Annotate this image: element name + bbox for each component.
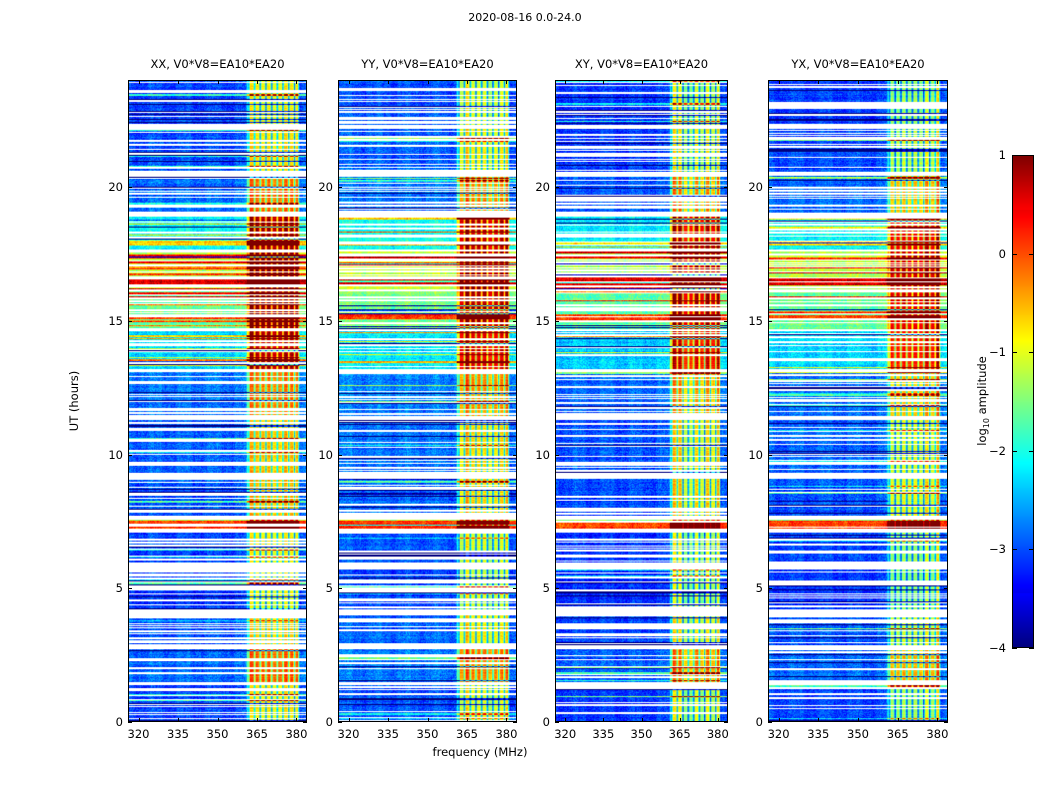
colorbar-tick-right: [1029, 549, 1034, 550]
colorbar-tick-right: [1029, 352, 1034, 353]
colorbar-label-sub: 10: [982, 418, 991, 428]
colorbar-tick: [1012, 352, 1017, 353]
y-tick-label: 5: [756, 581, 763, 595]
colorbar-tick-label: −2: [989, 444, 1006, 458]
colorbar-tick-right: [1029, 451, 1034, 452]
colorbar-label-suffix: amplitude: [975, 356, 989, 418]
colorbar-label-prefix: log: [975, 428, 989, 446]
colorbar-tick-right: [1029, 254, 1034, 255]
y-axis-label: UT (hours): [67, 371, 81, 431]
colorbar-tick-label: 1: [999, 148, 1006, 162]
colorbar-label: log10 amplitude: [975, 356, 991, 446]
colorbar-tick: [1012, 451, 1017, 452]
y-tick-label: 20: [748, 180, 763, 194]
colorbar-tick-label: −4: [989, 641, 1006, 655]
x-axis-label: frequency (MHz): [433, 745, 528, 759]
colorbar-tick: [1012, 648, 1017, 649]
y-tick-labels-panel-3: 05101520: [0, 0, 1050, 800]
colorbar[interactable]: [1012, 155, 1034, 648]
colorbar-tick-right: [1029, 648, 1034, 649]
y-tick-label: 10: [748, 448, 763, 462]
colorbar-tick-label: −3: [989, 542, 1006, 556]
colorbar-tick: [1012, 155, 1017, 156]
y-tick-label: 15: [748, 314, 763, 328]
colorbar-tick-right: [1029, 155, 1034, 156]
y-tick-label: 0: [756, 715, 763, 729]
figure-canvas: 2020-08-16 0.0-24.0 XX, V0*V8=EA10*EA20 …: [0, 0, 1050, 800]
colorbar-tick-label: 0: [999, 247, 1006, 261]
colorbar-tick: [1012, 549, 1017, 550]
colorbar-tick-label: −1: [989, 345, 1006, 359]
colorbar-tick: [1012, 254, 1017, 255]
